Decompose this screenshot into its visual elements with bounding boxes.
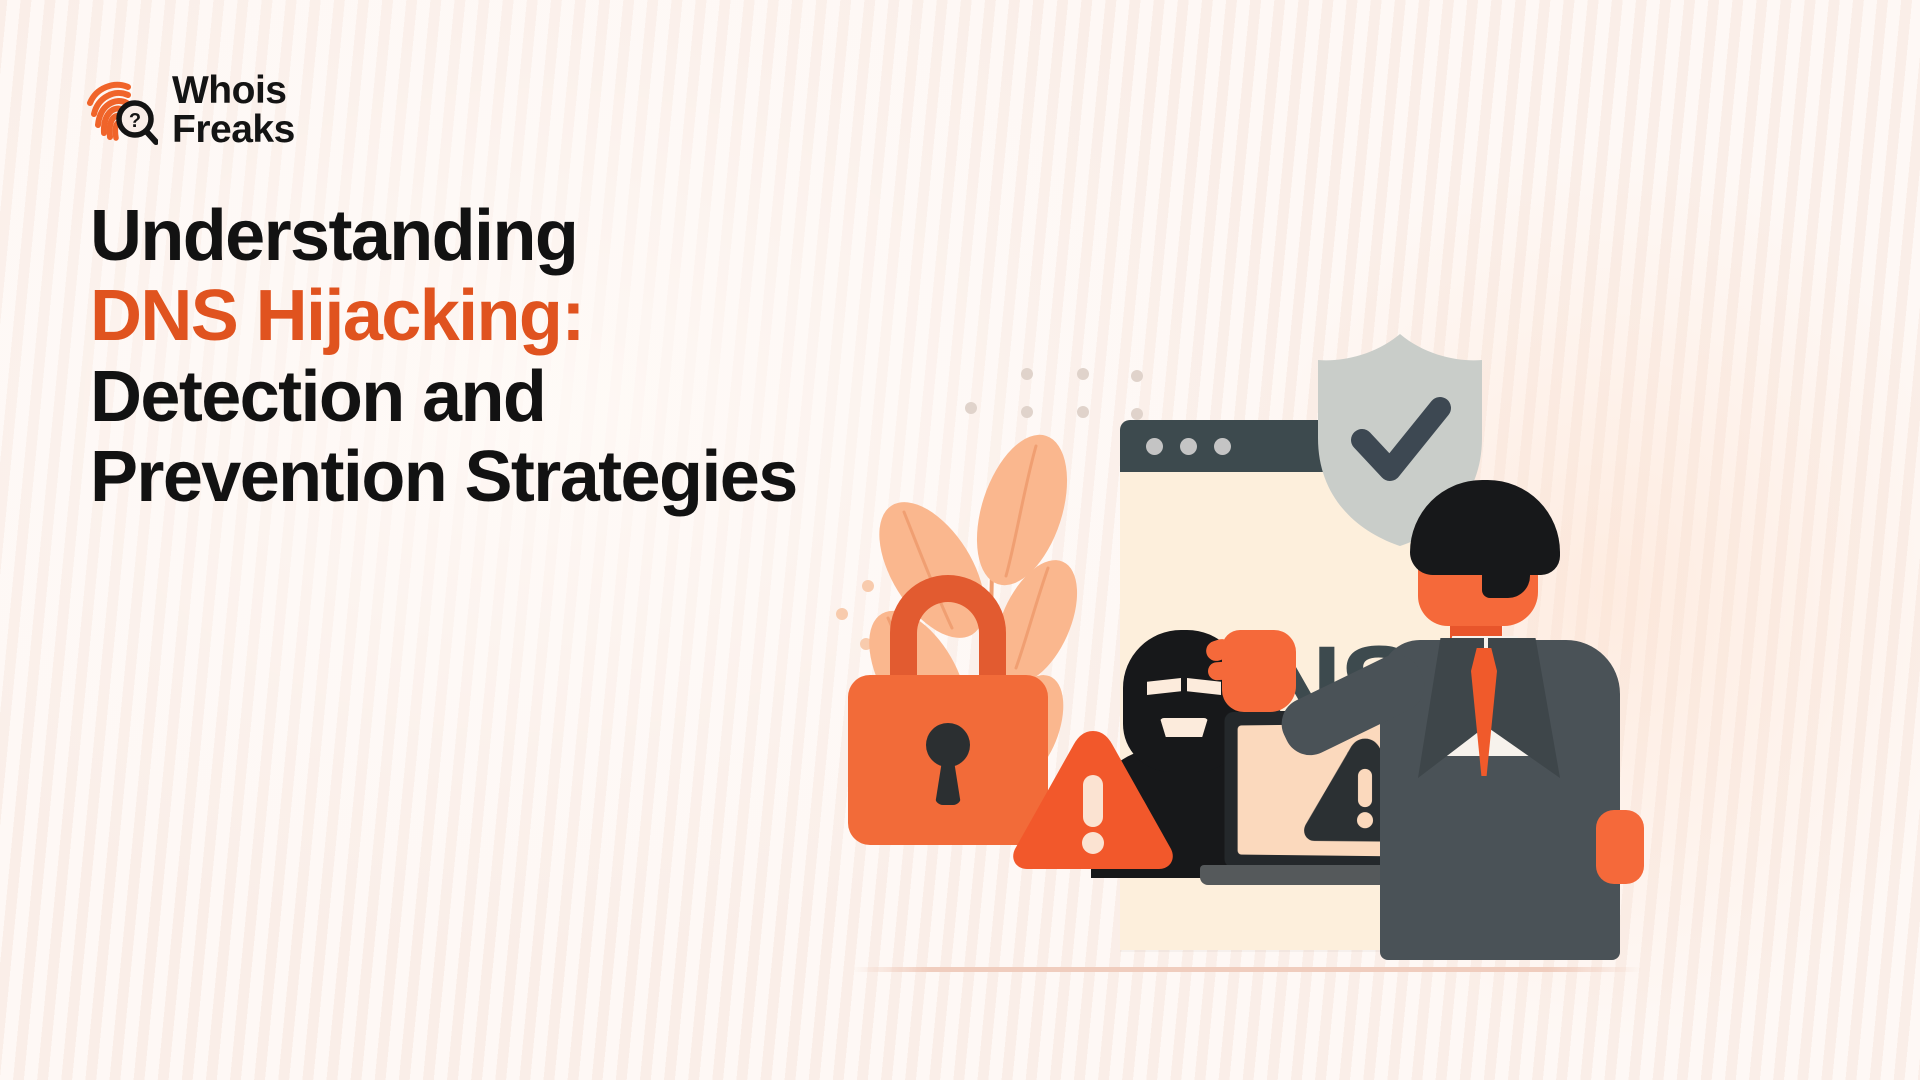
brand-name-line-2: Freaks [172,111,295,150]
brand-logo[interactable]: ? Whois Freaks [84,72,295,149]
man-lowered-hand [1596,810,1644,884]
man-raised-hand [1222,630,1296,712]
ground-line [852,967,1642,972]
man-hair [1410,480,1560,575]
hero-illustration: DNS [830,330,1890,1030]
window-dot-maximize [1214,438,1231,455]
hacker-eye-right [1187,678,1221,695]
banner-canvas: ? Whois Freaks Understanding DNS Hijacki… [0,0,1920,1080]
headline-line-1: Understanding [90,196,970,276]
window-dot-close [1146,438,1163,455]
fingerprint-magnifier-icon: ? [84,75,158,147]
brand-name-line-1: Whois [172,72,295,111]
warning-triangle-icon [1008,725,1178,873]
hacker-eye-left [1147,678,1181,695]
businessman-presenting-icon [1370,480,1640,960]
brand-wordmark: Whois Freaks [172,72,295,149]
svg-text:?: ? [129,110,141,132]
padlock-keyhole-stem [935,759,961,805]
window-dot-minimize [1180,438,1197,455]
